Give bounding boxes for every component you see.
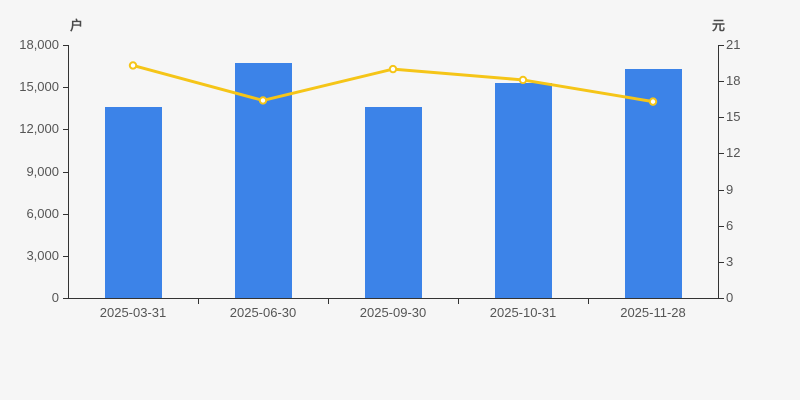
left-tick-label: 12,000 [19,122,59,135]
left-tick-label: 18,000 [19,38,59,51]
left-tick-mark [63,129,68,130]
x-tick-mark [458,299,459,304]
left-tick-mark [63,87,68,88]
right-tick-label: 9 [726,183,733,196]
left-tick-label: 9,000 [26,165,59,178]
right-tick-label: 12 [726,146,740,159]
x-tick-mark [328,299,329,304]
left-tick-mark [63,214,68,215]
x-axis-line [68,298,719,299]
left-tick-mark [63,172,68,173]
chart-container: 户 元 03,0006,0009,00012,00015,00018,000 0… [0,0,800,400]
bar-2025-10-31[interactable] [495,83,552,298]
bar-2025-06-30[interactable] [235,63,292,298]
left-tick-mark [63,256,68,257]
right-tick-mark [719,298,724,299]
right-tick-label: 15 [726,110,740,123]
x-tick-mark [588,299,589,304]
x-axis-category-label: 2025-11-28 [620,305,686,320]
x-tick-mark [198,299,199,304]
x-axis-category-label: 2025-06-30 [230,305,297,320]
right-tick-mark [719,190,724,191]
x-axis-category-label: 2025-03-31 [100,305,167,320]
right-tick-label: 21 [726,38,740,51]
line-marker-2025-03-31[interactable]: 2025-03-31: 19.3 元 [130,62,136,68]
bar-2025-09-30[interactable] [365,107,422,298]
left-tick-mark [63,45,68,46]
right-tick-mark [719,153,724,154]
left-tick-label: 15,000 [19,80,59,93]
left-tick-label: 0 [52,291,59,304]
right-tick-label: 3 [726,255,733,268]
right-tick-mark [719,81,724,82]
bar-2025-11-28[interactable] [625,69,682,298]
right-tick-mark [719,262,724,263]
line-marker-2025-09-30[interactable]: 2025-09-30: 19 元 [390,66,396,72]
left-tick-label: 6,000 [26,207,59,220]
right-tick-label: 6 [726,219,733,232]
left-tick-mark [63,298,68,299]
right-tick-label: 0 [726,291,733,304]
right-tick-mark [719,226,724,227]
right-tick-mark [719,117,724,118]
right-tick-label: 18 [726,74,740,87]
x-axis-category-label: 2025-09-30 [360,305,427,320]
bar-2025-03-31[interactable] [105,107,162,298]
right-axis-unit-label: 元 [712,19,725,32]
x-axis-category-label: 2025-10-31 [490,305,557,320]
line-path [133,65,653,101]
left-tick-label: 3,000 [26,249,59,262]
left-axis-unit-label: 户 [70,19,83,32]
right-tick-mark [719,45,724,46]
left-axis-line [68,45,69,299]
